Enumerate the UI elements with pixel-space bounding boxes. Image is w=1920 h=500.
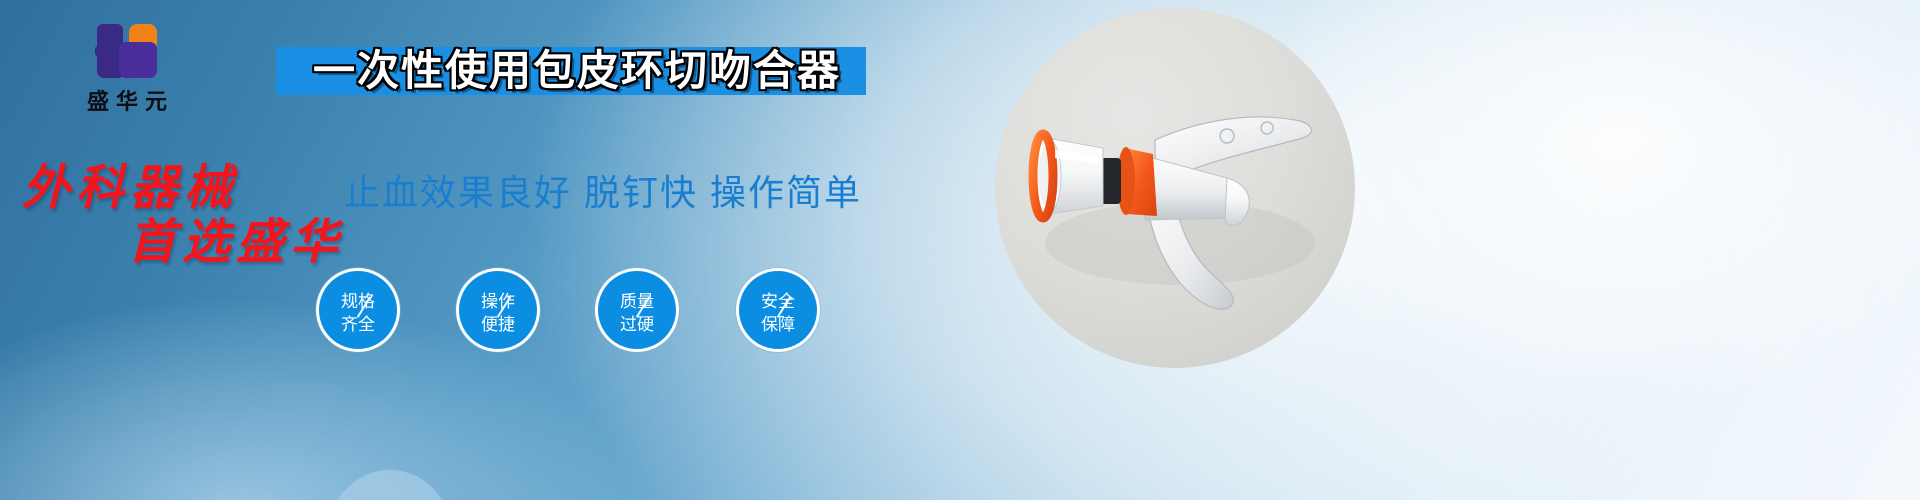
feature-badge-line-1: 规格: [319, 290, 397, 313]
promo-banner: 盛华元 一次性使用包皮环切吻合器 外科器械 首选盛华 止血效果良好 脱钉快 操作…: [0, 0, 1920, 500]
feature-badge-list: 规格 齐全 操作 便捷 质量 过硬 安全 保障: [316, 268, 866, 360]
feature-badge-label: 操作 便捷: [459, 290, 537, 336]
feature-badge-line-1: 质量: [598, 290, 676, 313]
calligraphy-line-2: 首选盛华: [128, 202, 344, 272]
feature-badge-label: 安全 保障: [739, 290, 817, 336]
feature-badge-specification[interactable]: 规格 齐全: [316, 268, 400, 352]
brand-logo[interactable]: 盛华元: [52, 24, 202, 124]
product-subtitle: 止血效果良好 脱钉快 操作简单: [344, 164, 862, 216]
brand-name: 盛华元: [52, 84, 202, 116]
feature-badge-line-2: 保障: [739, 313, 817, 336]
stapler-illustration: [995, 8, 1355, 368]
product-title: 一次性使用包皮环切吻合器: [282, 43, 872, 99]
background-glow-top-right: [1260, 0, 1920, 400]
feature-badge-line-1: 安全: [739, 290, 817, 313]
background-circle-sliver: [330, 470, 450, 500]
brand-blocks-icon: [89, 24, 165, 78]
product-photo[interactable]: [995, 8, 1355, 368]
feature-badge-operation[interactable]: 操作 便捷: [456, 268, 540, 352]
feature-badge-label: 规格 齐全: [319, 290, 397, 336]
feature-badge-line-2: 便捷: [459, 313, 537, 336]
feature-badge-line-2: 齐全: [319, 313, 397, 336]
feature-badge-line-1: 操作: [459, 290, 537, 313]
feature-badge-safety[interactable]: 安全 保障: [736, 268, 820, 352]
feature-badge-line-2: 过硬: [598, 313, 676, 336]
feature-badge-quality[interactable]: 质量 过硬: [595, 268, 679, 352]
logo-square-bottom-right: [119, 42, 157, 78]
feature-badge-label: 质量 过硬: [598, 290, 676, 336]
